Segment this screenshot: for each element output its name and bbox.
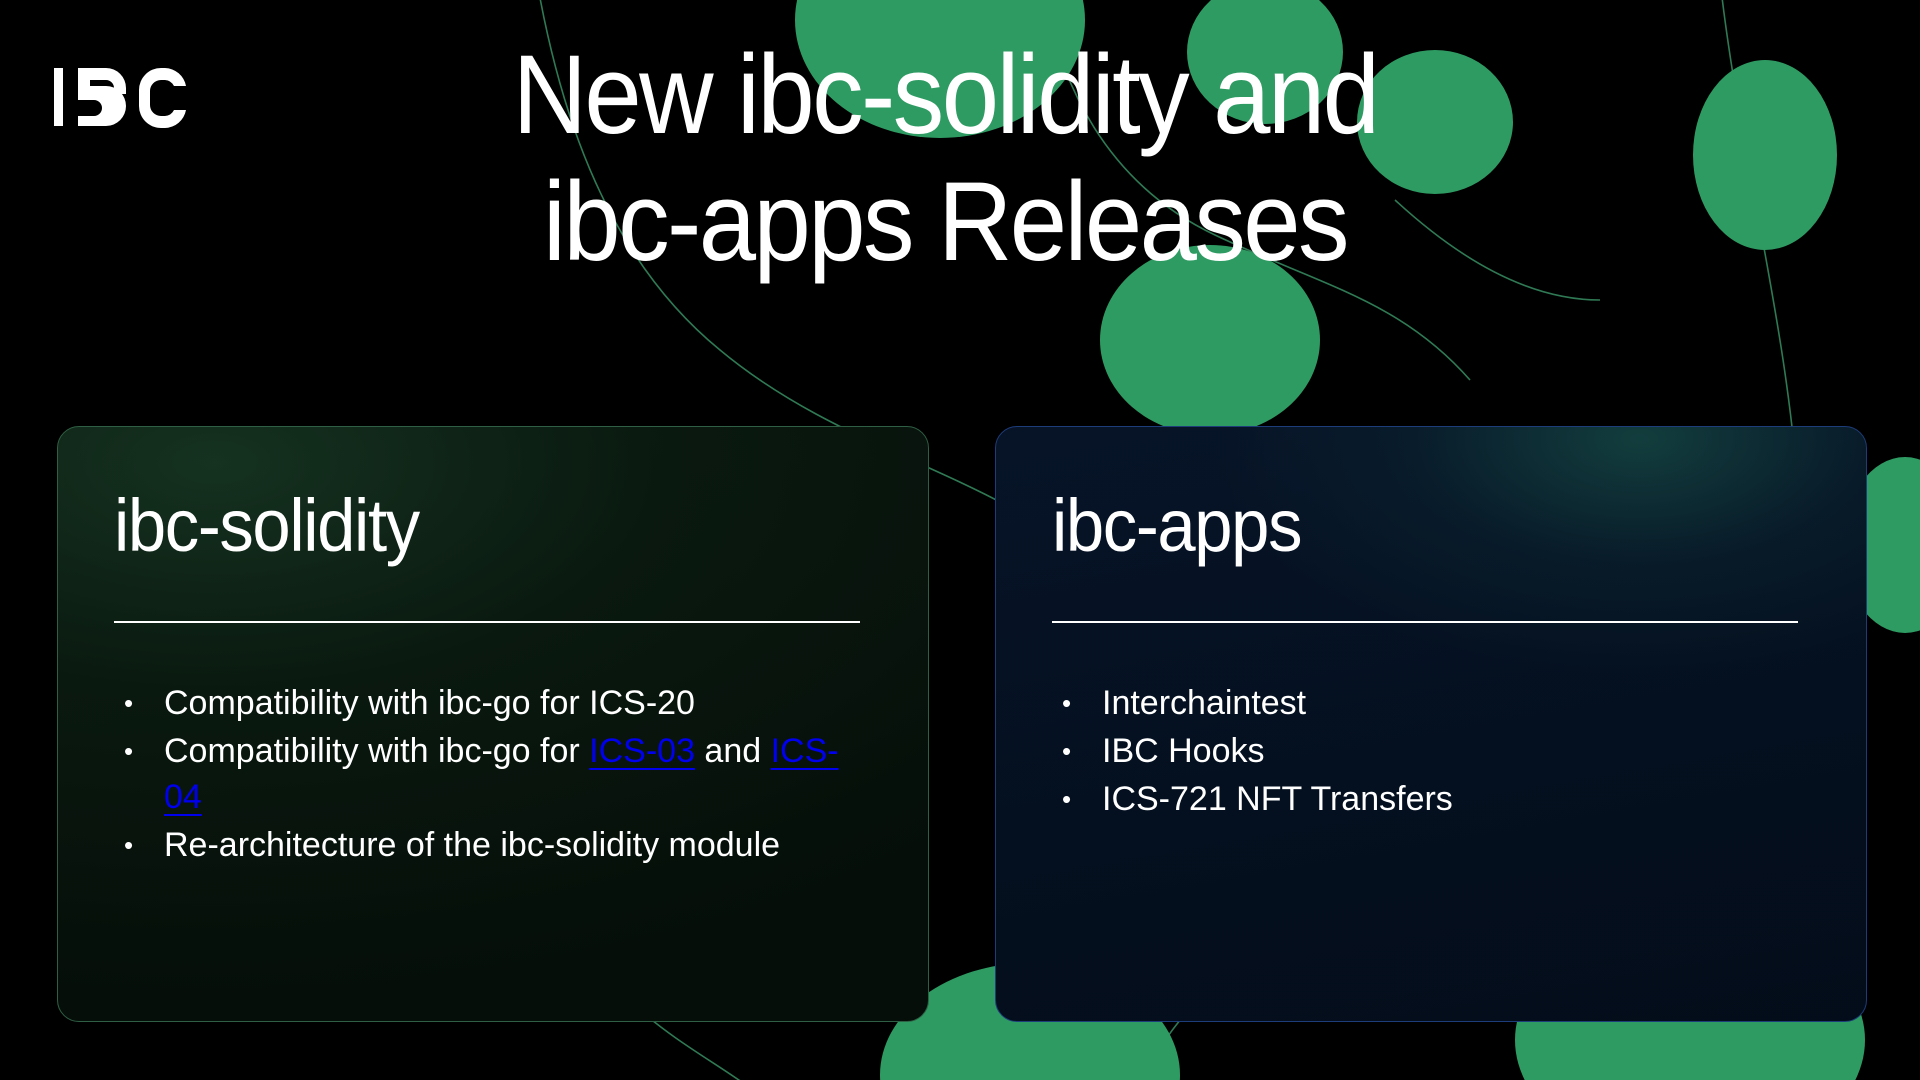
card-divider <box>1052 621 1798 623</box>
feature-list-ibc-solidity: Compatibility with ibc-go for ICS-20 Com… <box>114 681 872 869</box>
card-container: ibc-solidity Compatibility with ibc-go f… <box>0 0 1920 1080</box>
bullet-text: Compatibility with ibc-go for ICS-20 <box>164 684 695 722</box>
bullet-text: ICS-721 NFT Transfers <box>1102 780 1453 818</box>
list-item: Re-architecture of the ibc-solidity modu… <box>114 823 872 869</box>
card-ibc-apps: ibc-apps Interchaintest IBC Hooks ICS-72… <box>995 426 1867 1022</box>
bullet-text: and <box>695 732 771 770</box>
list-item: Compatibility with ibc-go for ICS-03 and… <box>114 729 872 821</box>
bullet-text: IBC Hooks <box>1102 732 1265 770</box>
bullet-text: Re-architecture of the ibc-solidity modu… <box>164 826 780 864</box>
bullet-text: Compatibility with ibc-go for <box>164 732 589 770</box>
list-item: IBC Hooks <box>1052 729 1810 775</box>
link-ics-03[interactable]: ICS-03 <box>589 732 695 770</box>
card-divider <box>114 621 860 623</box>
feature-list-ibc-apps: Interchaintest IBC Hooks ICS-721 NFT Tra… <box>1052 681 1810 823</box>
card-ibc-solidity: ibc-solidity Compatibility with ibc-go f… <box>57 426 929 1022</box>
list-item: ICS-721 NFT Transfers <box>1052 777 1810 823</box>
slide-root: New ibc-solidity and ibc-apps Releases i… <box>0 0 1920 1080</box>
list-item: Compatibility with ibc-go for ICS-20 <box>114 681 872 727</box>
list-item: Interchaintest <box>1052 681 1810 727</box>
bullet-text: Interchaintest <box>1102 684 1306 722</box>
card-title-ibc-apps: ibc-apps <box>1052 489 1757 563</box>
card-title-ibc-solidity: ibc-solidity <box>114 489 819 563</box>
